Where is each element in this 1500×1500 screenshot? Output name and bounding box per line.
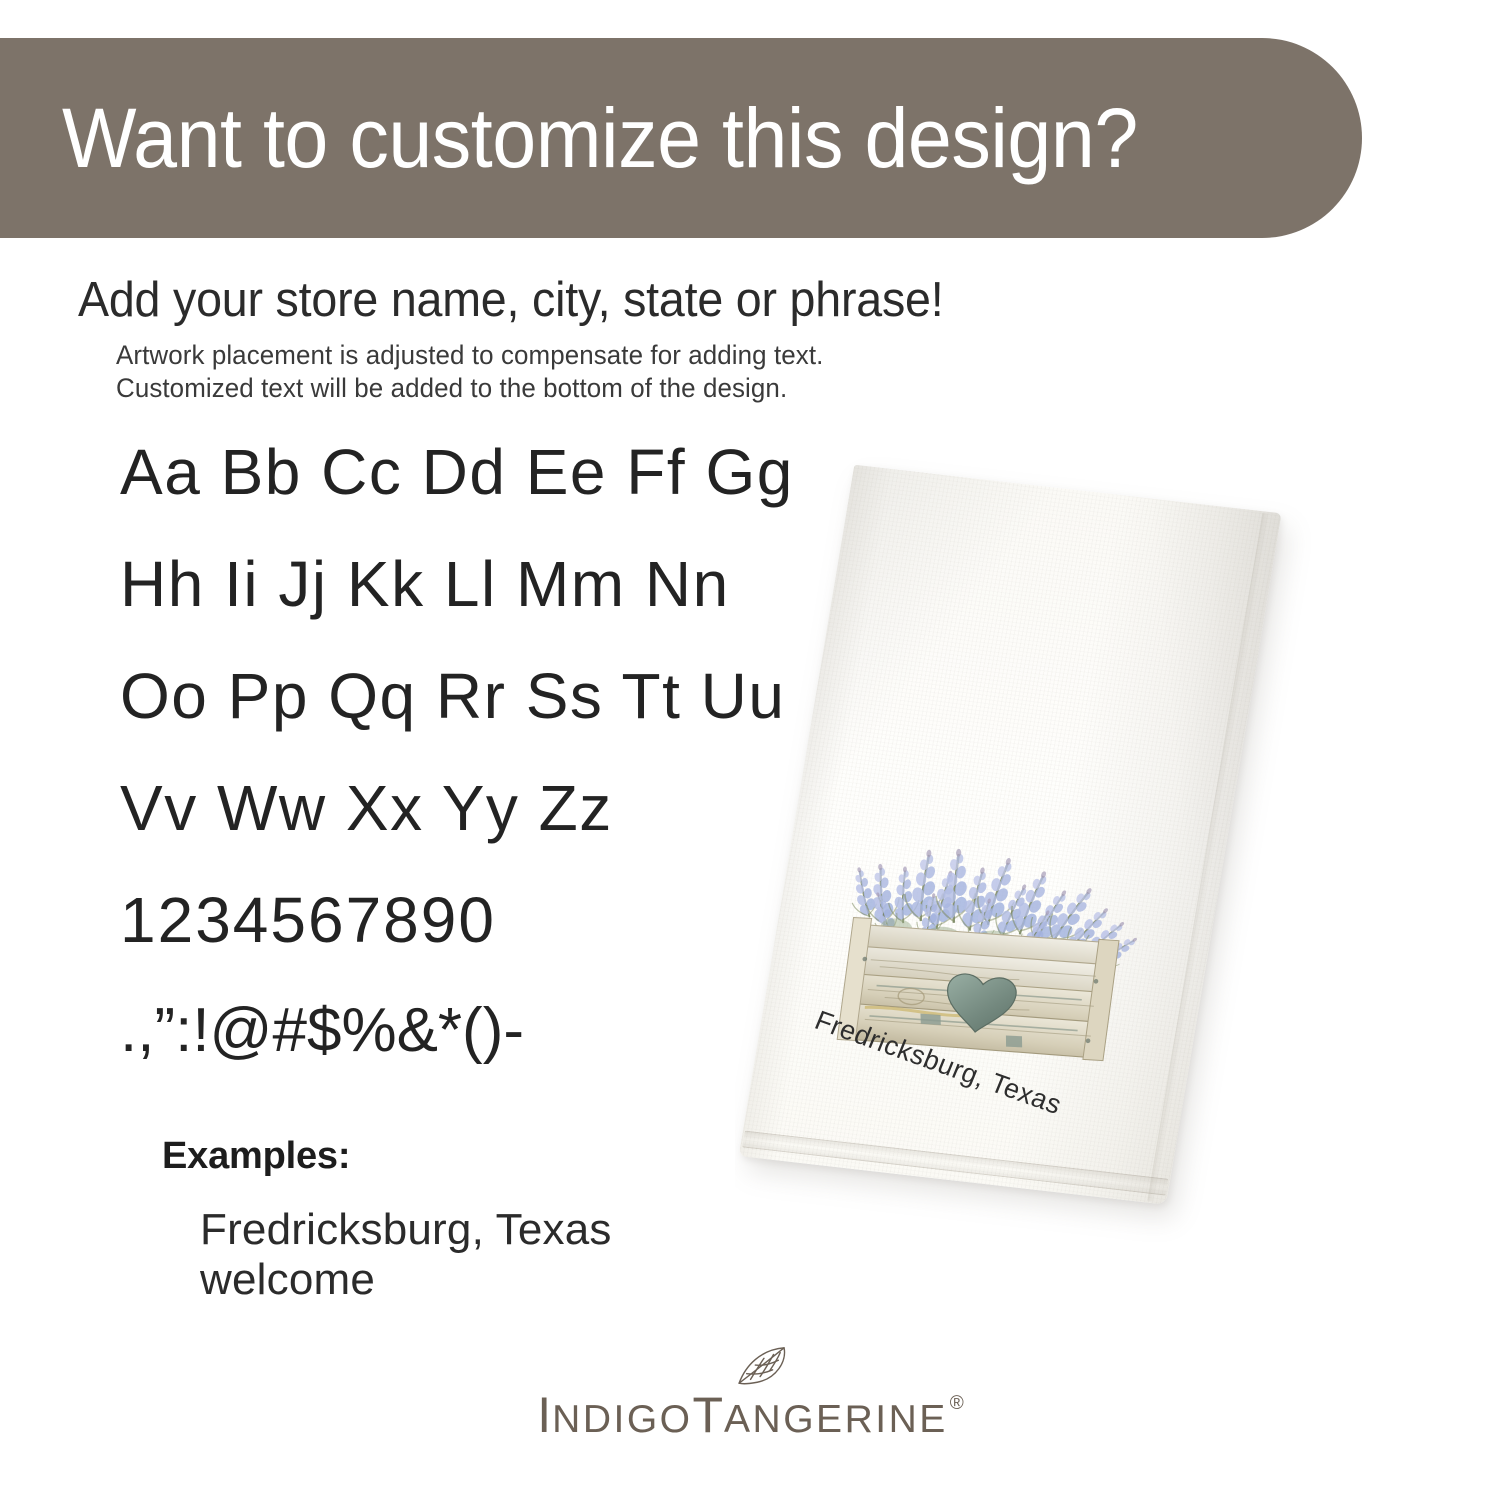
example-item: welcome	[200, 1255, 612, 1306]
brand-indigo: NDIGO	[552, 1400, 692, 1439]
note-line-1: Artwork placement is adjusted to compens…	[116, 340, 823, 371]
tea-towel: Fredricksburg, Texas	[739, 465, 1282, 1205]
brand-letter-t: T	[693, 1390, 725, 1440]
product-photo: Fredricksburg, Texas	[735, 455, 1495, 1245]
example-item: Fredricksburg, Texas	[200, 1205, 612, 1256]
registered-trademark-icon: ®	[950, 1394, 965, 1413]
examples-label: Examples:	[162, 1135, 612, 1179]
leaf-icon	[734, 1344, 792, 1388]
promo-graphic: Want to customize this design? Add your …	[0, 0, 1500, 1500]
note-line-2: Customized text will be added to the bot…	[116, 373, 787, 404]
header-banner: Want to customize this design?	[0, 38, 1362, 238]
brand-logo: I NDIGO T ANGERINE ®	[0, 1344, 1500, 1440]
brand-wordmark: I NDIGO T ANGERINE ®	[537, 1390, 963, 1440]
headline: Add your store name, city, state or phra…	[78, 272, 943, 328]
brand-tangerine: ANGERINE	[724, 1400, 948, 1439]
banner-title: Want to customize this design?	[62, 96, 1138, 180]
examples-block: Examples: Fredricksburg, Texas welcome	[162, 1135, 612, 1306]
brand-letter-i: I	[537, 1390, 552, 1440]
